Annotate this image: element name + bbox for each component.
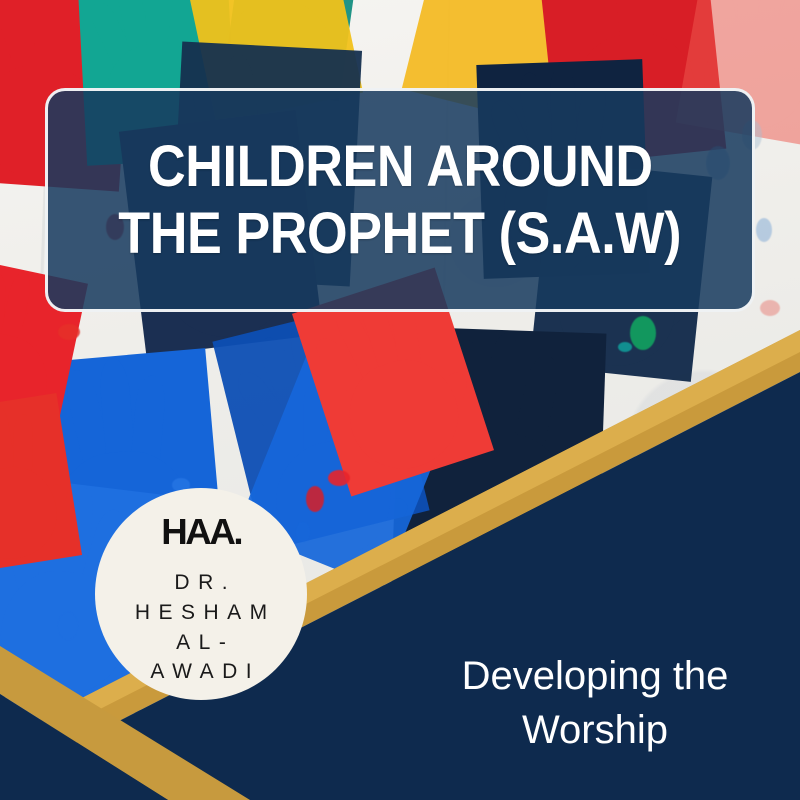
paint-smear — [296, 522, 310, 542]
speaker-name-line-4: AWADI — [142, 657, 260, 687]
haa-logo-mark: HAA. — [161, 514, 241, 550]
speaker-name-line-1: DR. — [166, 568, 236, 598]
paint-smear — [760, 300, 780, 316]
subtitle-line-2: Worship — [420, 704, 770, 758]
paint-smear — [630, 316, 656, 350]
speaker-name-line-3: AL- — [168, 628, 235, 658]
paint-smear — [328, 470, 350, 486]
subtitle-line-1: Developing the — [420, 650, 770, 704]
paint-smear — [332, 614, 356, 644]
subtitle: Developing the Worship — [420, 650, 770, 757]
paint-smear — [58, 612, 78, 640]
logo-badge: HAA. DR. HESHAM AL- AWADI — [95, 488, 307, 700]
title-banner: CHILDREN AROUND THE PROPHET (S.A.W) — [45, 88, 755, 312]
speaker-name-line-2: HESHAM — [126, 598, 275, 628]
paint-smear — [342, 560, 370, 582]
paint-smear — [756, 218, 772, 242]
paint-smear — [618, 342, 632, 352]
poster-canvas: CHILDREN AROUND THE PROPHET (S.A.W) HAA.… — [0, 0, 800, 800]
title-line-2: THE PROPHET (S.A.W) — [119, 200, 682, 267]
paint-smear — [58, 324, 80, 340]
paint-smear — [306, 486, 324, 512]
title-line-1: CHILDREN AROUND — [148, 133, 653, 200]
